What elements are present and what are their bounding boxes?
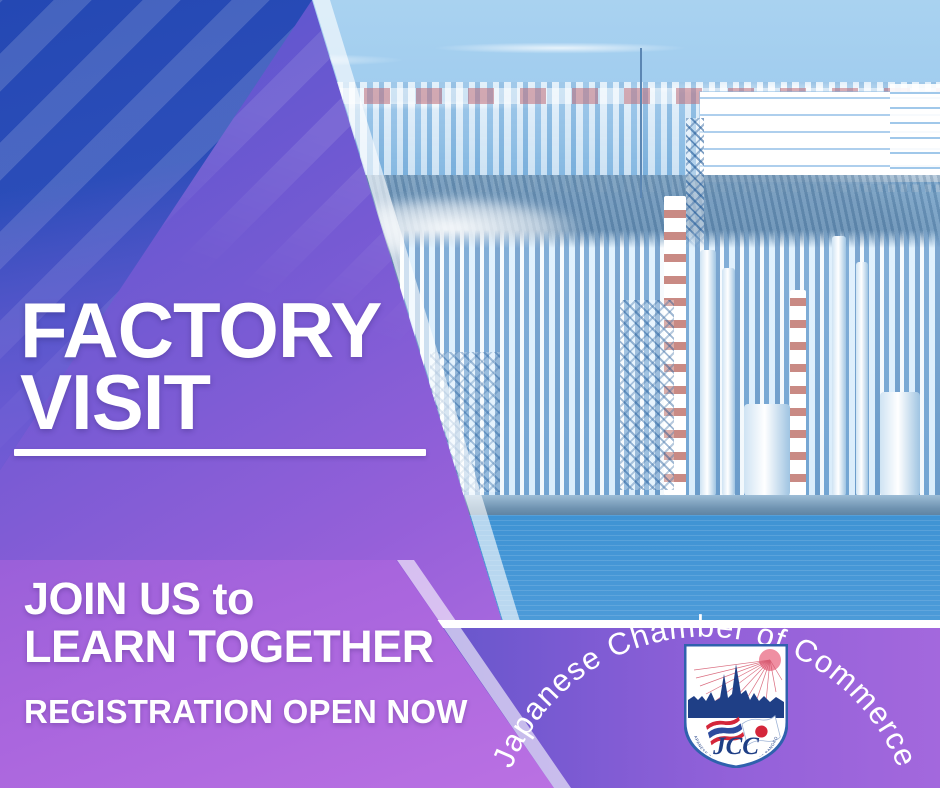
poster-canvas: FACTORY VISIT JOIN US to LEARN TOGETHER … (0, 0, 940, 788)
distillation-tower-d (856, 262, 868, 496)
distillation-tower-b (722, 268, 735, 496)
smokestack-right (790, 290, 806, 496)
subheadline-line-2: LEARN TOGETHER (24, 623, 434, 671)
storage-tank-2 (880, 392, 920, 496)
distillation-tower-a (700, 250, 716, 496)
subheadline-line-1: JOIN US to (24, 573, 254, 624)
pipe-rack (620, 300, 674, 490)
apartment-block-right (890, 84, 940, 184)
jcc-logo: JAPANESE CHAMBER OF COMMERCE BANGKOK JCC (684, 644, 788, 768)
distillation-tower-c (832, 236, 846, 496)
registration-cta: REGISTRATION OPEN NOW (24, 693, 468, 731)
radio-mast (640, 48, 642, 198)
headline-line-2: VISIT (20, 367, 381, 439)
page-title: FACTORY VISIT (20, 295, 381, 439)
title-underline-rule (14, 449, 426, 456)
storage-tank (744, 404, 790, 496)
temple-base-band (688, 708, 784, 718)
subheadline: JOIN US to LEARN TOGETHER (24, 575, 434, 670)
logo-monogram: JCC (712, 733, 759, 760)
